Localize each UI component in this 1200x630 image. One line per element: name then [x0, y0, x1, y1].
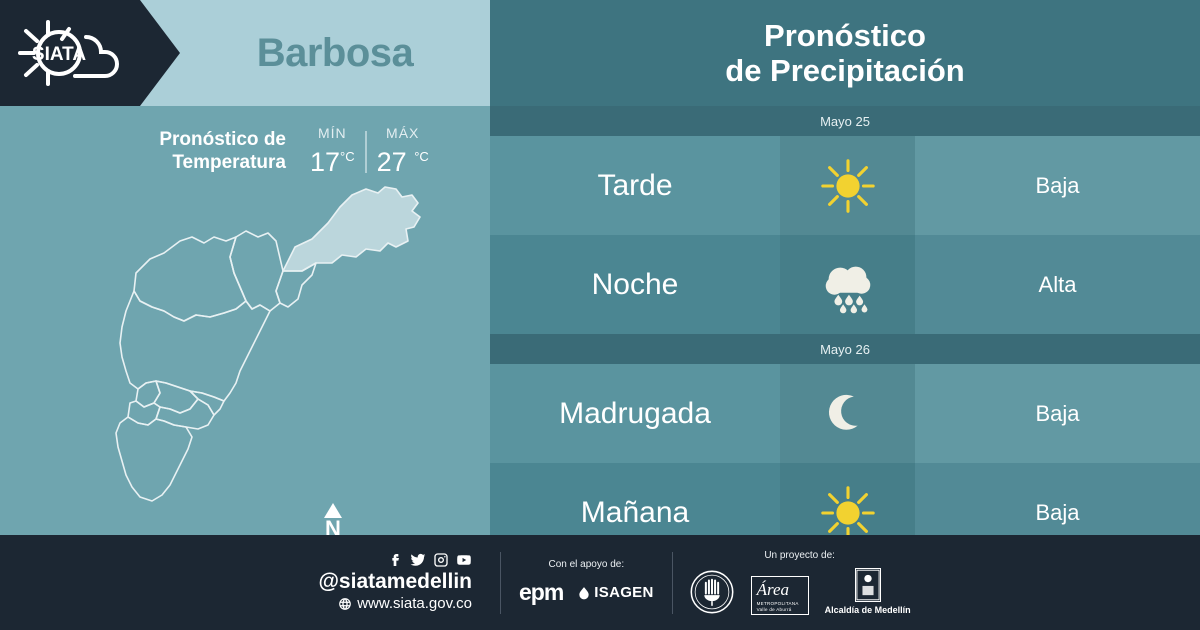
temperature-title-line2: Temperatura: [172, 152, 286, 173]
social-block: @siatamedellin www.siata.gov.co: [0, 552, 500, 613]
project-logos: Área METROPOLITANA Valle de Aburrá Alcal…: [689, 568, 911, 615]
temperature-max: MÁX 27 °C: [367, 125, 439, 177]
right-panel: Pronóstico de Precipitación Mayo 25 Tard…: [490, 0, 1200, 535]
project-caption: Un proyecto de:: [764, 550, 835, 561]
precipitation-probability: Alta: [915, 235, 1200, 334]
temperature-divider: [365, 131, 367, 173]
max-unit: °C: [414, 149, 429, 164]
siata-logo-badge: SIATA: [0, 0, 180, 106]
left-header-band: SIATA Barbosa: [0, 0, 490, 106]
temperature-min: MÍN 17°C: [300, 125, 365, 177]
twitter-icon[interactable]: [410, 552, 426, 568]
date-bar-day2: Mayo 26: [490, 334, 1200, 364]
website-line[interactable]: www.siata.gov.co: [0, 594, 472, 613]
infographic-root: SIATA Barbosa Pronóstico de Temperatura …: [0, 0, 1200, 630]
support-block: Con el apoyo de: epm ISAGEN: [501, 559, 672, 606]
sun-cloud-icon: SIATA: [12, 17, 137, 89]
temperature-values: MÍN 17°C MÁX 27 °C: [300, 125, 439, 177]
precipitation-probability: Baja: [915, 364, 1200, 463]
min-label: MÍN: [310, 125, 355, 141]
temperature-title-line1: Pronóstico de: [159, 129, 286, 150]
map-region-itagui: [128, 401, 160, 425]
min-unit: °C: [340, 149, 355, 164]
rain-cloud-icon: [817, 254, 879, 316]
isagen-text: ISAGEN: [594, 584, 653, 601]
social-handle[interactable]: @siatamedellin: [0, 570, 472, 594]
aburra-valley-map: N: [40, 175, 460, 530]
max-label: MÁX: [377, 125, 429, 141]
map-region-medellin: [120, 291, 270, 401]
period-label: Madrugada: [490, 364, 780, 463]
precipitation-header: Pronóstico de Precipitación: [490, 0, 1200, 106]
project-block: Un proyecto de: Área METROPOLITANA Valle…: [673, 550, 911, 615]
date-label-day1: Mayo 25: [820, 114, 870, 129]
map-region-caldas: [116, 417, 192, 501]
period-label: Tarde: [490, 136, 780, 235]
website-url: www.siata.gov.co: [357, 594, 472, 613]
precipitation-probability: Baja: [915, 136, 1200, 235]
instagram-icon[interactable]: [433, 552, 449, 568]
forecast-row: Noche: [490, 235, 1200, 334]
alcaldia-logo: Alcaldía de Medellín: [825, 568, 911, 615]
city-title: Barbosa: [185, 0, 485, 106]
support-logos: epm ISAGEN: [519, 579, 654, 606]
min-value: 17°C: [310, 142, 355, 177]
map-svg: [40, 175, 460, 530]
date-label-day2: Mayo 26: [820, 342, 870, 357]
period-label: Noche: [490, 235, 780, 334]
facebook-icon[interactable]: [387, 552, 403, 568]
map-region-barbosa: [283, 187, 420, 271]
isagen-logo: ISAGEN: [577, 584, 653, 601]
medellin-seal-icon: [689, 569, 735, 615]
forecast-row: Madrugada Baja: [490, 364, 1200, 463]
area-name: Área: [757, 580, 803, 600]
epm-logo: epm: [519, 579, 563, 606]
social-icons: [0, 552, 472, 568]
siata-logo-text: SIATA: [32, 44, 86, 65]
area-sub2: Valle de Aburrá: [757, 607, 803, 612]
footer: @siatamedellin www.siata.gov.co Con el a…: [0, 535, 1200, 630]
globe-icon: [338, 597, 352, 611]
area-sub1: METROPOLITANA: [757, 601, 803, 606]
support-caption: Con el apoyo de:: [548, 559, 624, 570]
area-metropolitana-logo: Área METROPOLITANA Valle de Aburrá: [751, 576, 809, 615]
youtube-icon[interactable]: [456, 552, 472, 568]
precipitation-title-line1: Pronóstico: [764, 18, 926, 53]
temperature-title: Pronóstico de Temperatura: [86, 128, 286, 174]
isagen-mark-icon: [577, 586, 591, 600]
moon-icon: [817, 383, 879, 445]
map-region-copacabana: [230, 231, 283, 311]
weather-icon-cell: [780, 235, 915, 334]
forecast-row: Tarde Baja: [490, 136, 1200, 235]
weather-icon-cell: [780, 364, 915, 463]
weather-icon-cell: [780, 136, 915, 235]
alcaldia-crest-icon: [855, 568, 881, 602]
alcaldia-name: Alcaldía de Medellín: [825, 605, 911, 615]
precipitation-title-line2: de Precipitación: [725, 53, 964, 88]
max-value: 27 °C: [377, 142, 429, 177]
map-region-bello: [134, 237, 246, 321]
sun-icon: [817, 155, 879, 217]
date-bar-day1: Mayo 25: [490, 106, 1200, 136]
left-panel: SIATA Barbosa Pronóstico de Temperatura …: [0, 0, 490, 535]
